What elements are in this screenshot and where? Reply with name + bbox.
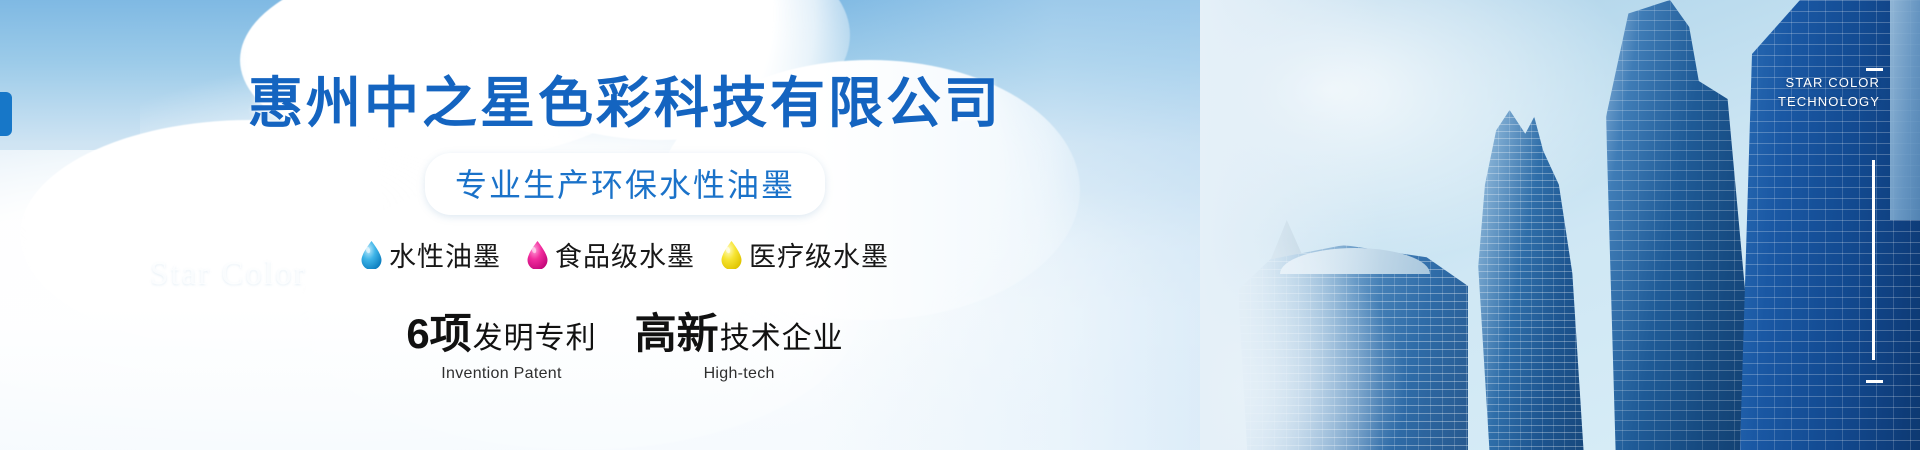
promo-banner: Star Color STAR COLOR TECHNOLOGY 惠州中之星色彩… bbox=[0, 0, 1920, 450]
water-drop-icon bbox=[527, 241, 548, 269]
feature-label: 水性油墨 bbox=[389, 235, 501, 274]
banner-content: 惠州中之星色彩科技有限公司 专业生产环保水性油墨 水性油墨 bbox=[0, 0, 1250, 450]
feature-label: 食品级水墨 bbox=[555, 235, 695, 274]
feature-item-medical-grade-ink: 医疗级水墨 bbox=[721, 235, 889, 274]
credential-high-tech: 高新 技术企业 High-tech bbox=[635, 300, 844, 383]
feature-label: 医疗级水墨 bbox=[749, 235, 889, 274]
credential-rest: 技术企业 bbox=[720, 313, 844, 357]
water-drop-icon bbox=[721, 241, 742, 269]
credential-subtitle: Invention Patent bbox=[441, 365, 561, 383]
credential-strong: 6项 bbox=[406, 300, 471, 361]
building-far-right bbox=[1890, 0, 1920, 220]
water-drop-icon bbox=[361, 241, 382, 269]
credential-line: 高新 技术企业 bbox=[635, 300, 844, 361]
page-title: 惠州中之星色彩科技有限公司 bbox=[248, 58, 1002, 138]
photo-brand-line2: TECHNOLOGY bbox=[1778, 93, 1880, 112]
feature-item-food-grade-ink: 食品级水墨 bbox=[527, 235, 695, 274]
credentials-list: 6项 发明专利 Invention Patent 高新 技术企业 High-te… bbox=[406, 300, 843, 383]
brand-tick-bottom bbox=[1866, 380, 1883, 383]
photo-brand-label: STAR COLOR TECHNOLOGY bbox=[1778, 74, 1880, 112]
tagline-badge: 专业生产环保水性油墨 bbox=[425, 153, 825, 215]
credential-invention-patent: 6项 发明专利 Invention Patent bbox=[406, 300, 596, 383]
credential-strong: 高新 bbox=[635, 300, 719, 361]
brand-tick-top bbox=[1866, 68, 1883, 71]
skyscraper-photo bbox=[1200, 0, 1920, 450]
credential-line: 6项 发明专利 bbox=[406, 300, 596, 361]
credential-subtitle: High-tech bbox=[704, 365, 775, 383]
feature-item-water-ink: 水性油墨 bbox=[361, 235, 501, 274]
photo-brand-line1: STAR COLOR bbox=[1778, 74, 1880, 93]
credential-rest: 发明专利 bbox=[473, 313, 597, 357]
brand-vertical-rule bbox=[1872, 160, 1875, 360]
feature-list: 水性油墨 食品级水墨 bbox=[361, 235, 889, 274]
